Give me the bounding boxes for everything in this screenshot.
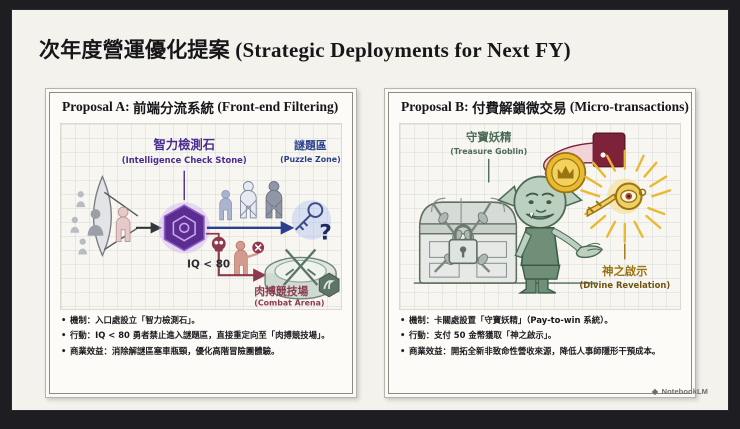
proposal-b-heading-en: Proposal B: <box>401 99 469 115</box>
page-title: 次年度營運優化提案 (Strategic Deployments for Nex… <box>39 34 571 64</box>
bullet-text: 行動：IQ < 80 勇者禁止進入謎題區，直接重定向至「肉搏競技場」。 <box>70 330 330 340</box>
key-question-icon: ? <box>292 200 332 245</box>
label-combat-arena-zh: 肉搏競技場 <box>254 284 308 298</box>
bullet-dot: • <box>61 344 70 359</box>
proposal-b-heading: Proposal B: 付費解鎖微交易 (Micro-transactions) <box>389 93 691 121</box>
bullet-item: •行動：IQ < 80 勇者禁止進入謎題區，直接重定向至「肉搏競技場」。 <box>61 328 343 343</box>
proposal-a-bullets: •機制：入口處設立「智力檢測石」。 •行動：IQ < 80 勇者禁止進入謎題區，… <box>61 313 343 359</box>
slide-screen: 次年度營運優化提案 (Strategic Deployments for Nex… <box>0 0 740 429</box>
notebooklm-watermark: NotebookLM <box>651 387 708 396</box>
bullet-item: •機制：入口處設立「智力檢測石」。 <box>61 313 343 328</box>
page-title-en: (Strategic Deployments for Next FY) <box>235 38 571 62</box>
label-combat-arena-en: (Combat Arena) <box>254 299 324 308</box>
notebooklm-logo-icon <box>651 388 659 396</box>
svg-text:?: ? <box>319 221 332 246</box>
proposal-b-card[interactable]: Proposal B: 付費解鎖微交易 (Micro-transactions) <box>384 88 696 398</box>
slide-page: 次年度營運優化提案 (Strategic Deployments for Nex… <box>12 10 728 410</box>
proposal-a-heading-zh: 前端分流系統 <box>133 97 214 117</box>
proposal-a-heading: Proposal A: 前端分流系統 (Front-end Filtering) <box>50 93 352 121</box>
gold-coin-icon <box>546 153 585 192</box>
bullet-item: •行動：支付 50 金幣獲取「神之啟示」。 <box>400 328 682 343</box>
bullet-text: 行動：支付 50 金幣獲取「神之啟示」。 <box>409 330 556 340</box>
bullet-dot: • <box>61 313 70 328</box>
proposal-a-heading-paren: (Front-end Filtering) <box>217 99 338 115</box>
bullet-text: 機制：卡關處設置「守寶妖精」（Pay-to-win 系統）。 <box>409 315 613 325</box>
label-intelligence-stone-zh: 智力檢測石 <box>152 137 215 152</box>
proposal-b-heading-zh: 付費解鎖微交易 <box>472 97 567 117</box>
proposal-b-inner: Proposal B: 付費解鎖微交易 (Micro-transactions) <box>388 92 692 394</box>
radiant-key-icon <box>581 151 670 242</box>
proposal-a-illustration: ? <box>60 123 342 310</box>
label-intelligence-stone-en: (Intelligence Check Stone) <box>122 155 247 165</box>
label-puzzle-zone-zh: 謎題區 <box>294 138 327 152</box>
notebooklm-watermark-label: NotebookLM <box>662 387 708 396</box>
bullet-dot: • <box>400 344 409 359</box>
bullet-text: 機制：入口處設立「智力檢測石」。 <box>70 315 200 325</box>
bullet-text: 商業效益：開拓全新非致命性營收來源，降低人事師隱形干預成本。 <box>409 346 660 356</box>
label-divine-revelation-en: (Divine Revelation) <box>579 280 670 290</box>
proposal-b-heading-paren: (Micro-transactions) <box>570 99 689 115</box>
proposal-b-bullets: •機制：卡關處設置「守寶妖精」（Pay-to-win 系統）。 •行動：支付 5… <box>400 313 682 359</box>
crowd-funnel-icon <box>94 177 138 256</box>
proposal-b-illustration: 守寶妖精 (Treasure Goblin) 神之啟示 (Divine Reve… <box>399 123 681 310</box>
bullet-item: •機制：卡關處設置「守寶妖精」（Pay-to-win 系統）。 <box>400 313 682 328</box>
proposal-a-inner: Proposal A: 前端分流系統 (Front-end Filtering) <box>49 92 353 394</box>
proposal-a-heading-en: Proposal A: <box>62 99 130 115</box>
bullet-dot: • <box>400 328 409 343</box>
label-puzzle-zone-en: (Puzzle Zone) <box>280 155 341 164</box>
bullet-item: •商業效益：消除解謎區塞車瓶頸，優化高階冒險團體驗。 <box>61 344 343 359</box>
hexagon-gate-icon <box>159 202 210 253</box>
label-iq-threshold: IQ < 80 <box>187 258 230 270</box>
adventurer-icon <box>116 207 130 242</box>
label-treasure-goblin-en: (Treasure Goblin) <box>450 147 527 156</box>
bullet-item: •商業效益：開拓全新非致命性營收來源，降低人事師隱形干預成本。 <box>400 344 682 359</box>
bullet-text: 商業效益：消除解謎區塞車瓶頸，優化高階冒險團體驗。 <box>70 346 279 356</box>
label-treasure-goblin-zh: 守寶妖精 <box>466 130 512 144</box>
skull-icon <box>212 237 226 252</box>
label-divine-revelation-zh: 神之啟示 <box>602 264 647 278</box>
page-title-zh: 次年度營運優化提案 <box>39 38 230 62</box>
rejected-badge-icon <box>252 242 264 254</box>
bullet-dot: • <box>61 328 70 343</box>
proposal-a-card[interactable]: Proposal A: 前端分流系統 (Front-end Filtering) <box>45 88 357 398</box>
bullet-dot: • <box>400 313 409 328</box>
